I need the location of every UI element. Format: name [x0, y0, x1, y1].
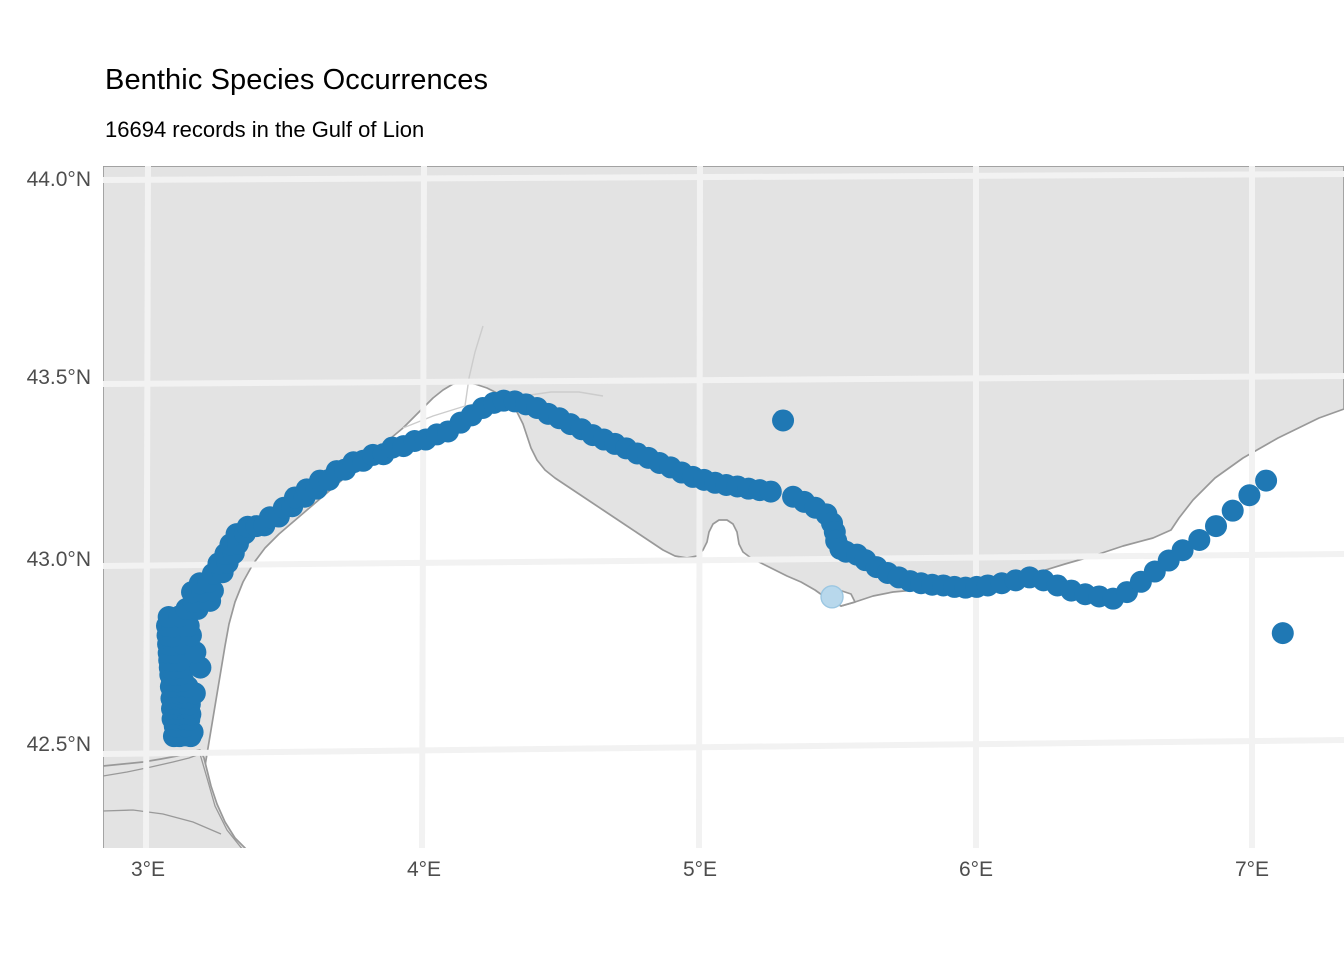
occurrence-point — [760, 481, 782, 503]
y-tick-label-43-5: 43.5°N — [27, 366, 91, 390]
y-tick-label-44: 44.0°N — [27, 168, 91, 192]
x-tick-label-6E: 6°E — [959, 858, 993, 882]
x-tick-label-7E: 7°E — [1235, 858, 1269, 882]
occurrence-point — [1255, 470, 1277, 492]
occurrence-point — [1205, 515, 1227, 537]
page-title: Benthic Species Occurrences — [105, 64, 488, 97]
faded-occurrence-point — [821, 586, 843, 608]
map-panel — [103, 166, 1344, 848]
occurrence-point — [1238, 484, 1260, 506]
graticule-meridian-3E — [146, 166, 148, 848]
occurrence-point — [772, 409, 794, 431]
y-tick-label-42-5: 42.5°N — [27, 733, 91, 757]
occurrence-point — [1272, 622, 1294, 644]
faded-occurrence-point-layer — [821, 586, 843, 608]
x-tick-label-3E: 3°E — [131, 858, 165, 882]
x-tick-label-4E: 4°E — [407, 858, 441, 882]
x-tick-label-5E: 5°E — [683, 858, 717, 882]
y-tick-label-43: 43.0°N — [27, 548, 91, 572]
map-canvas — [103, 166, 1344, 848]
occurrence-point — [1222, 500, 1244, 522]
page-subtitle: 16694 records in the Gulf of Lion — [105, 117, 424, 143]
graticule-meridian-4E — [422, 166, 424, 848]
map-plot-root: Benthic Species Occurrences 16694 record… — [0, 0, 1344, 960]
